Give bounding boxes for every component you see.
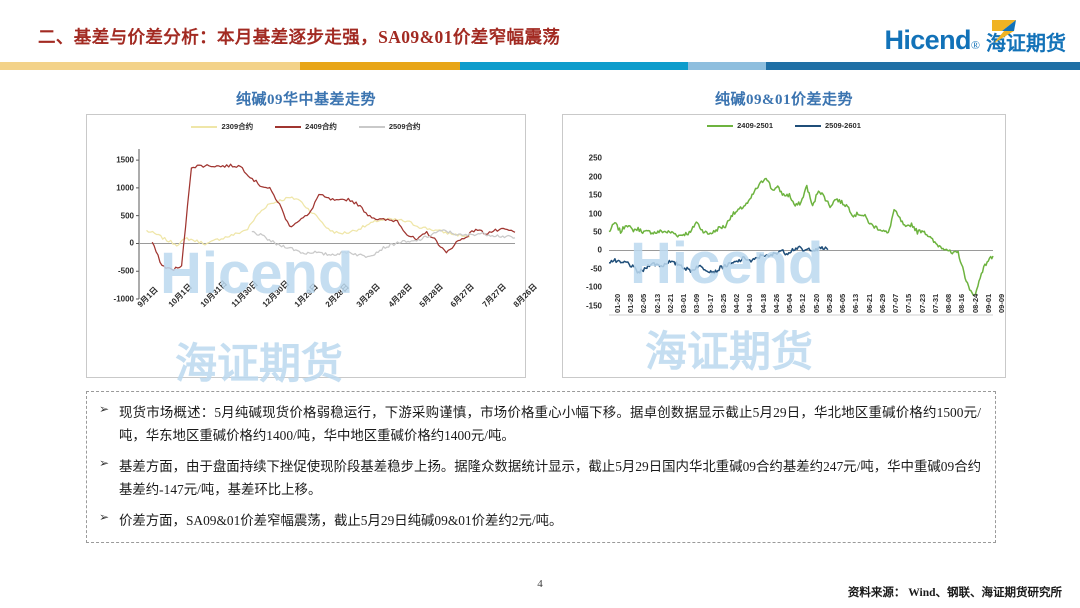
- y-axis-spine: [136, 149, 139, 299]
- source-note: 资料来源： Wind、钢联、海证期货研究所: [848, 584, 1062, 600]
- chart-plot-spread: 2409-25012509-2601250200150100500-50-100…: [562, 114, 1006, 378]
- x-axis-tick-label: 06-05: [838, 294, 847, 313]
- chart-svg: [563, 115, 1005, 377]
- chart-panel-basis: 纯碱09华中基差走势 2309合约2409合约2509合约15001000500…: [86, 88, 526, 378]
- list-item: ➢ 基差方面，由于盘面持续下挫促使现阶段基差稳步上扬。据隆众数据统计显示，截止5…: [99, 455, 981, 501]
- x-axis-tick-label: 03-09: [692, 294, 701, 313]
- bullet-text-basis: 基差方面，由于盘面持续下挫促使现阶段基差稳步上扬。据隆众数据统计显示，截止5月2…: [119, 455, 981, 501]
- analysis-textbox: ➢ 现货市场概述：5月纯碱现货价格弱稳运行，下游采购谨慎，市场价格重心小幅下移。…: [86, 391, 996, 543]
- hicend-logo: Hicend® 海证期货: [884, 20, 1066, 54]
- x-axis-tick-label: 01-20: [613, 294, 622, 313]
- x-axis-tick-label: 03-01: [679, 294, 688, 313]
- bullet-text-spread: 价差方面，SA09&01价差窄幅震荡，截止5月29日纯碱09&01价差约2元/吨…: [119, 509, 981, 532]
- series-line: [147, 197, 470, 246]
- arrow-icon: [990, 18, 1020, 44]
- bullet-icon: ➢: [99, 401, 119, 416]
- x-axis-tick-label: 08-24: [971, 294, 980, 313]
- page-title: 二、基差与价差分析：本月基差逐步走强，SA09&01价差窄幅震荡: [38, 24, 560, 49]
- x-axis-tick-label: 07-07: [891, 294, 900, 313]
- x-axis-tick-label: 05-20: [812, 294, 821, 313]
- x-axis-tick-label: 08-08: [944, 294, 953, 313]
- series-line: [609, 179, 993, 296]
- x-axis-tick-label: 04-10: [745, 294, 754, 313]
- chart-plot-basis: 2309合约2409合约2509合约150010005000-500-10009…: [86, 114, 526, 378]
- x-axis-tick-label: 09-09: [997, 294, 1006, 313]
- x-axis-tick-label: 08-16: [957, 294, 966, 313]
- x-axis-tick-label: 07-23: [918, 294, 927, 313]
- rule-segment-0: [0, 62, 300, 70]
- x-axis-tick-label: 03-25: [719, 294, 728, 313]
- x-axis-tick-label: 04-02: [732, 294, 741, 313]
- x-axis-tick-label: 09-01: [984, 294, 993, 313]
- x-axis-tick-label: 06-21: [865, 294, 874, 313]
- chart-title-basis: 纯碱09华中基差走势: [86, 88, 526, 109]
- x-axis-tick-label: 02-05: [639, 294, 648, 313]
- x-axis-tick-label: 07-31: [931, 294, 940, 313]
- x-axis-tick-label: 02-13: [653, 294, 662, 313]
- logo-wordmark: Hicend: [884, 25, 970, 55]
- rule-segment-4: [766, 62, 1080, 70]
- x-axis-tick-label: 03-17: [706, 294, 715, 313]
- logo-registered-mark: ®: [971, 38, 980, 52]
- header-color-rule: [0, 62, 1080, 70]
- chart-title-spread: 纯碱09&01价差走势: [562, 88, 1006, 109]
- list-item: ➢ 现货市场概述：5月纯碱现货价格弱稳运行，下游采购谨慎，市场价格重心小幅下移。…: [99, 401, 981, 447]
- x-axis-tick-label: 04-26: [772, 294, 781, 313]
- chart-panel-spread: 纯碱09&01价差走势 2409-25012509-26012502001501…: [562, 88, 1006, 378]
- x-axis-tick-label: 01-28: [626, 294, 635, 313]
- x-axis-tick-label: 07-15: [904, 294, 913, 313]
- chart-svg: [87, 115, 525, 377]
- x-axis-tick-label: 05-04: [785, 294, 794, 313]
- x-axis-tick-label: 05-12: [798, 294, 807, 313]
- x-axis-tick-label: 02-21: [666, 294, 675, 313]
- x-axis-tick-label: 06-29: [878, 294, 887, 313]
- bullet-icon: ➢: [99, 455, 119, 470]
- rule-segment-3: [688, 62, 766, 70]
- x-axis-tick-label: 05-28: [825, 294, 834, 313]
- x-axis-tick-label: 06-13: [851, 294, 860, 313]
- bullet-text-spot-market: 现货市场概述：5月纯碱现货价格弱稳运行，下游采购谨慎，市场价格重心小幅下移。据卓…: [119, 401, 981, 447]
- slide-header: 二、基差与价差分析：本月基差逐步走强，SA09&01价差窄幅震荡 Hicend®…: [0, 0, 1080, 70]
- rule-segment-2: [460, 62, 688, 70]
- list-item: ➢ 价差方面，SA09&01价差窄幅震荡，截止5月29日纯碱09&01价差约2元…: [99, 509, 981, 532]
- bullet-icon: ➢: [99, 509, 119, 524]
- rule-segment-1: [300, 62, 460, 70]
- x-axis-tick-label: 04-18: [759, 294, 768, 313]
